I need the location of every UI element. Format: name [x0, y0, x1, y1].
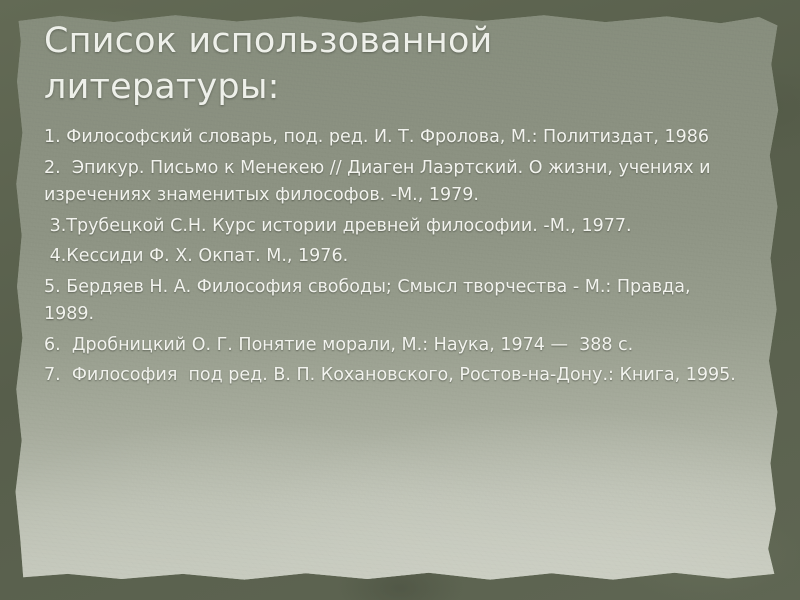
- list-item: 2. Эпикур. Письмо к Менекею // Диаген Ла…: [44, 155, 744, 210]
- slide-content: Список использованной литературы: 1. Фил…: [44, 18, 760, 393]
- page-title: Список использованной литературы:: [44, 18, 604, 110]
- list-item: 1. Философский словарь, под. ред. И. Т. …: [44, 124, 744, 152]
- list-item: 6. Дробницкий О. Г. Понятие морали, М.: …: [44, 332, 744, 360]
- list-item: 4.Кессиди Ф. Х. Окпат. М., 1976.: [44, 243, 744, 271]
- bibliography-list: 1. Философский словарь, под. ред. И. Т. …: [44, 124, 744, 390]
- presentation-slide: Список использованной литературы: 1. Фил…: [0, 0, 800, 600]
- list-item: 5. Бердяев Н. А. Философия свободы; Смыс…: [44, 274, 744, 329]
- list-item: 3.Трубецкой С.Н. Курс истории древней фи…: [44, 213, 744, 241]
- list-item: 7. Философия под ред. В. П. Кохановского…: [44, 362, 744, 390]
